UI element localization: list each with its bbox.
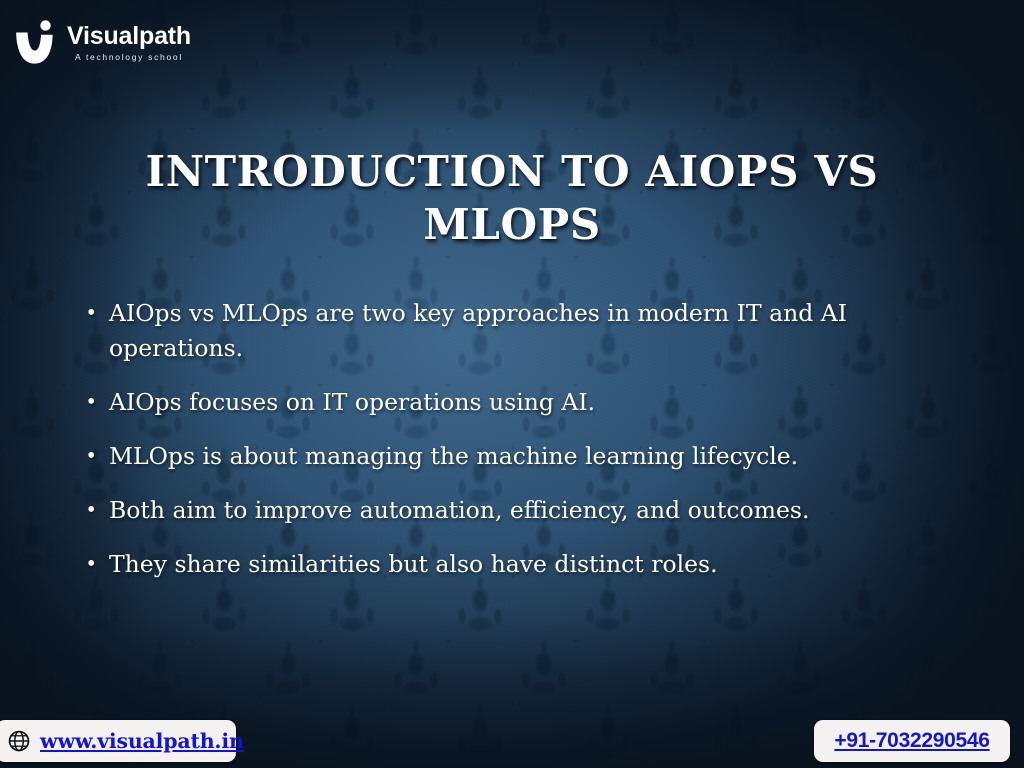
website-link[interactable]: www.visualpath.in (40, 729, 244, 753)
list-item-text: They share similarities but also have di… (109, 547, 718, 582)
list-item: • They share similarities but also have … (84, 547, 964, 582)
list-item-text: AIOps focuses on IT operations using AI. (109, 385, 595, 420)
presentation-slide: Visualpath A technology school INTRODUCT… (0, 0, 1024, 768)
list-item-text: Both aim to improve automation, efficien… (109, 493, 809, 528)
globe-icon (8, 730, 30, 752)
brand-logo: Visualpath A technology school (14, 18, 191, 65)
slide-title: INTRODUCTION TO AIOPS VS MLOPS (92, 145, 932, 252)
bullet-list: • AIOps vs MLOps are two key approaches … (84, 296, 964, 601)
brand-name: Visualpath (67, 24, 191, 49)
list-item: • AIOps vs MLOps are two key approaches … (84, 296, 964, 366)
list-item-text: MLOps is about managing the machine lear… (109, 439, 798, 474)
list-item-text: AIOps vs MLOps are two key approaches in… (109, 296, 929, 366)
website-chip[interactable]: www.visualpath.in (0, 720, 236, 762)
brand-tagline: A technology school (67, 53, 191, 62)
bullet-marker-icon: • (84, 547, 109, 581)
bullet-marker-icon: • (84, 439, 109, 473)
bullet-marker-icon: • (84, 493, 109, 527)
visualpath-v-icon (14, 19, 58, 65)
phone-link[interactable]: +91-7032290546 (834, 729, 989, 753)
bullet-marker-icon: • (84, 385, 109, 419)
bullet-marker-icon: • (84, 296, 109, 330)
list-item: • MLOps is about managing the machine le… (84, 439, 964, 474)
brand-logo-text: Visualpath A technology school (67, 18, 191, 62)
phone-chip[interactable]: +91-7032290546 (814, 720, 1010, 762)
list-item: • AIOps focuses on IT operations using A… (84, 385, 964, 420)
list-item: • Both aim to improve automation, effici… (84, 493, 964, 528)
